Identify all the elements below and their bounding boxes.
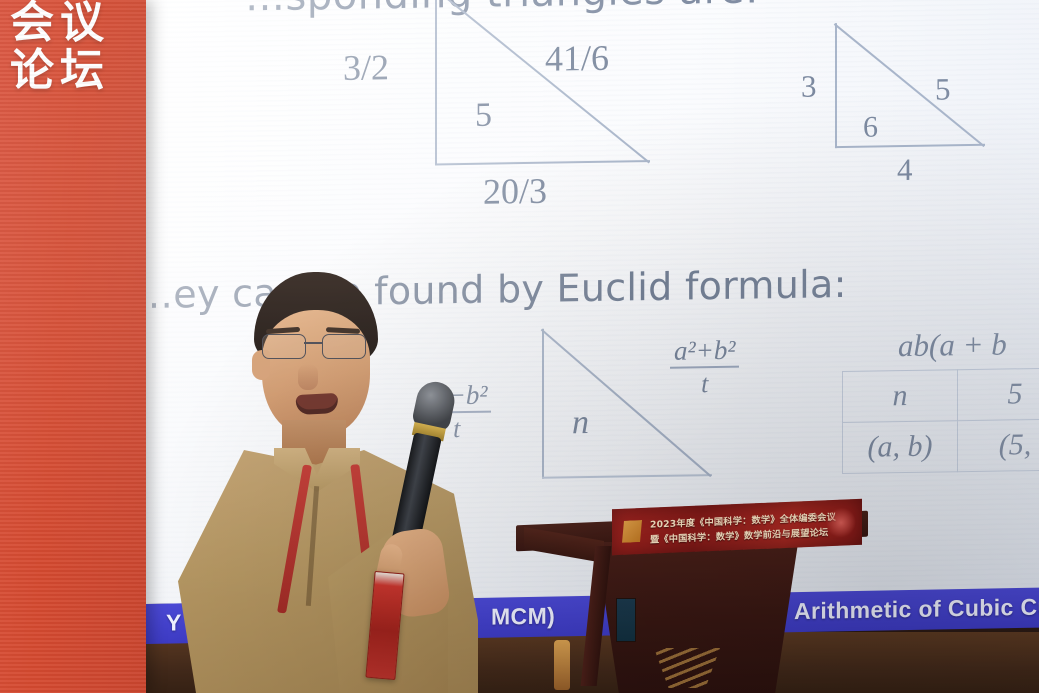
euclid-formula-triangle: a²−b² t a²+b² t n — [542, 326, 712, 479]
euclid-hypotenuse-denominator: t — [670, 370, 739, 398]
euclid-area-label: n — [572, 404, 589, 442]
triangle-two-vertical-label: 3 — [801, 68, 817, 104]
speaker-person — [178, 272, 478, 693]
red-banner-line1: 会议 — [0, 0, 120, 50]
lectern: 2023年度《中国科学：数学》全体编委会议 暨《中国科学：数学》数学前沿与展望论… — [516, 498, 868, 693]
triangle-two-hypotenuse-label: 5 — [935, 71, 951, 107]
eyeglasses-icon — [260, 334, 372, 358]
table-row-value: 5 — [958, 368, 1039, 421]
triangle-two: 3 5 6 4 — [835, 21, 985, 148]
table-row-value: (5, — [958, 419, 1039, 472]
lectern-control-panel — [616, 598, 636, 642]
parameter-table-caption: ab(a + b — [898, 326, 1007, 364]
triangle-two-base-leg — [835, 144, 985, 148]
triangle-one-area-label: 5 — [475, 97, 492, 135]
triangle-one-base-leg — [435, 160, 650, 165]
lectern-leg — [581, 546, 612, 686]
red-vertical-banner: 会议 论坛 — [0, 0, 146, 693]
triangle-two-area-label: 6 — [863, 110, 878, 144]
eyeglass-lens-right — [322, 334, 366, 359]
euclid-triangle-vertical-leg — [542, 329, 544, 479]
eyeglass-bridge — [304, 342, 322, 344]
table-row: n 5 — [843, 368, 1039, 423]
lectern-sign: 2023年度《中国科学：数学》全体编委会议 暨《中国科学：数学》数学前沿与展望论… — [612, 499, 862, 555]
eyeglass-lens-left — [262, 334, 306, 359]
triangle-one-hypotenuse-label: 41/6 — [545, 37, 609, 80]
triangle-one-vertical-label: 3/2 — [343, 46, 389, 89]
table-row-label: (a, b) — [843, 421, 958, 474]
table-row-label: n — [843, 370, 958, 423]
speaker-nose — [298, 364, 318, 390]
triangle-two-base-label: 4 — [897, 152, 913, 188]
decorative-flower-icon — [826, 507, 856, 538]
triangle-one: 3/2 41/6 5 20/3 — [435, 0, 650, 165]
triangle-one-base-label: 20/3 — [483, 170, 547, 213]
euclid-triangle-base-leg — [542, 474, 712, 479]
red-banner-line2: 论坛 — [0, 34, 120, 98]
journal-logo-icon — [622, 520, 642, 543]
table-row: (a, b) (5, — [843, 419, 1039, 474]
euclid-hypotenuse-fraction: a²+b² t — [670, 336, 739, 399]
triangle-one-hypotenuse-leg — [434, 0, 650, 163]
conference-photo: …sponding triangles are: 3/2 41/6 5 20/3… — [0, 0, 1039, 693]
water-bottle — [554, 640, 570, 690]
triangle-two-vertical-leg — [835, 23, 837, 148]
triangle-two-hypotenuse-leg — [834, 23, 985, 147]
euclid-hypotenuse-numerator: a²+b² — [670, 336, 739, 365]
triangle-one-vertical-leg — [435, 0, 437, 165]
parameter-table-grid: n 5 (a, b) (5, — [842, 367, 1039, 474]
